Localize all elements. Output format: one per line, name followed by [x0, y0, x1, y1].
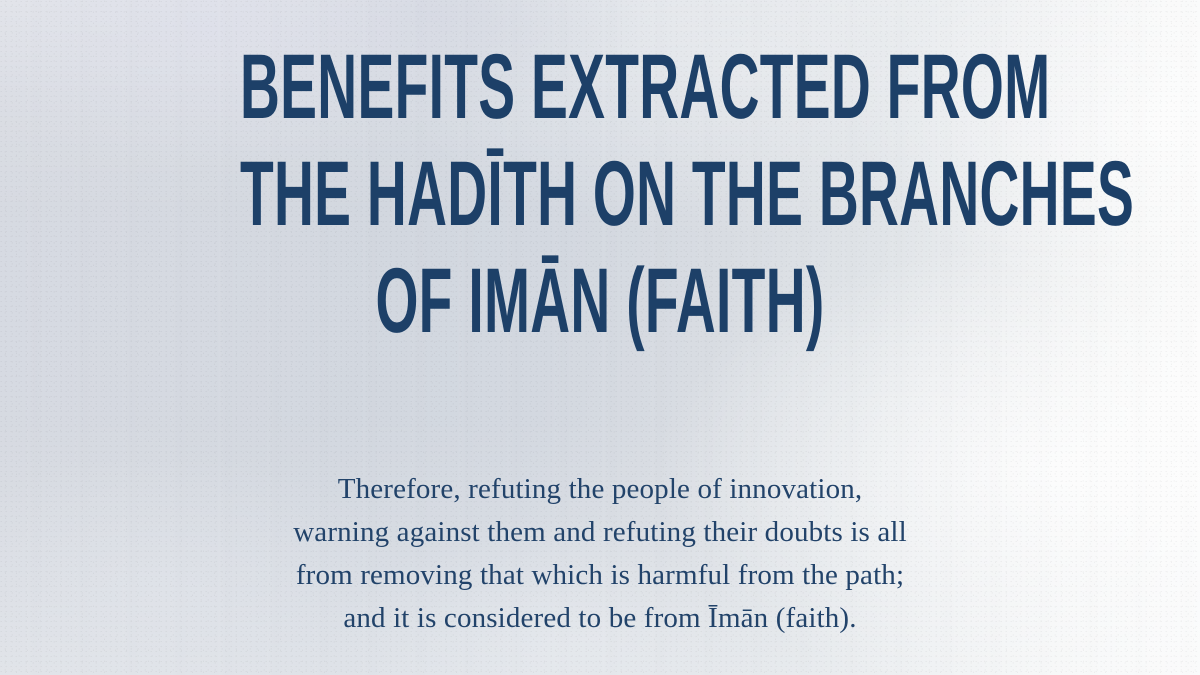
slide-title-line-2: THE HADĪTH ON THE BRANCHES [240, 141, 960, 248]
slide-title-line-1: BENEFITS EXTRACTED FROM [240, 34, 960, 141]
slide-body-text: Therefore, refuting the people of innova… [0, 468, 1200, 640]
slide-title-line-3: OF IMĀN (FAITH) [240, 248, 960, 355]
presentation-slide: BENEFITS EXTRACTED FROM THE HADĪTH ON TH… [0, 0, 1200, 675]
slide-body-line-1: Therefore, refuting the people of innova… [0, 468, 1200, 511]
slide-content: BENEFITS EXTRACTED FROM THE HADĪTH ON TH… [0, 0, 1200, 675]
slide-title: BENEFITS EXTRACTED FROM THE HADĪTH ON TH… [240, 34, 960, 355]
slide-body-line-2: warning against them and refuting their … [0, 511, 1200, 554]
slide-body-line-4: and it is considered to be from Īmān (fa… [0, 597, 1200, 640]
slide-body-line-3: from removing that which is harmful from… [0, 554, 1200, 597]
